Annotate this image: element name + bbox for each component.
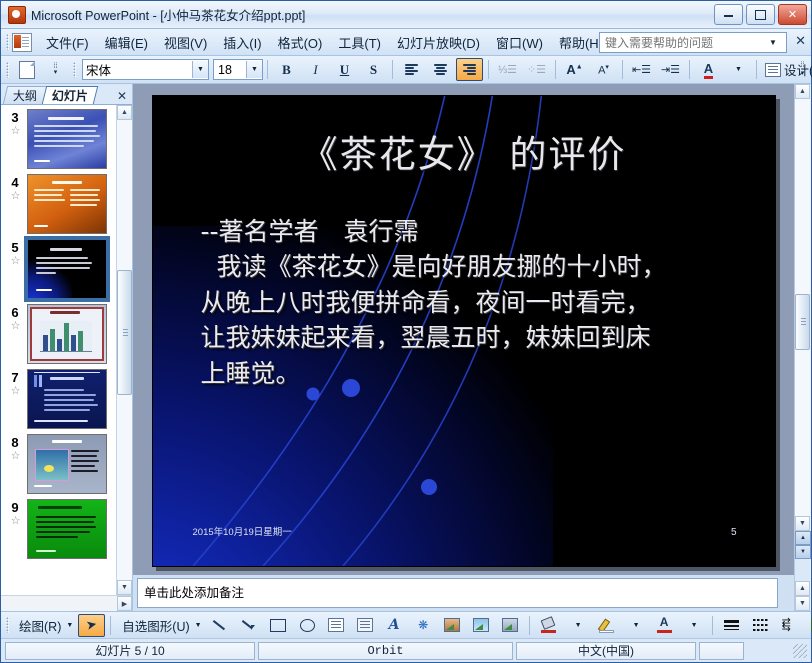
scroll-up-icon[interactable]: ▲ xyxy=(117,105,132,120)
thumbnail-meta: 3 ☆ xyxy=(3,109,27,137)
minimize-button[interactable] xyxy=(714,4,743,25)
decrease-font-icon: A▾ xyxy=(598,63,609,77)
slide-number: 7 xyxy=(3,371,27,385)
menu-item-window[interactable]: 窗口(W) xyxy=(488,30,551,55)
slide-scrollbar[interactable]: ▲ ▼ ▲ ▼ ▲ ▼ xyxy=(794,84,811,611)
arrow-style-button[interactable]: ⇄⇆ xyxy=(776,614,803,637)
textbox-icon xyxy=(328,618,344,632)
title-bar: Microsoft PowerPoint - [小仲马茶花女介绍ppt.ppt]… xyxy=(1,1,811,29)
separator xyxy=(488,60,489,79)
menu-item-tools[interactable]: 工具(T) xyxy=(330,30,389,55)
next-slide-button[interactable]: ▼ xyxy=(795,545,811,559)
status-bar: 幻灯片 5 / 10 Orbit 中文(中国) xyxy=(1,638,811,662)
thumbnail-meta: 4 ☆ xyxy=(3,174,27,202)
picture-icon xyxy=(473,618,489,632)
status-extra xyxy=(699,642,744,660)
diagram-icon: ❋ xyxy=(418,618,428,632)
separator xyxy=(622,60,623,79)
dash-style-button[interactable] xyxy=(747,614,774,637)
slide-number: 3 xyxy=(3,111,27,125)
animation-icon: ☆ xyxy=(3,125,27,137)
draw-font-color-button[interactable]: A xyxy=(651,614,678,637)
tab-outline-label: 大纲 xyxy=(13,87,37,104)
slide-editor-pane: 《茶花女》 的评价 --著名学者 袁行霈 我读《茶花女》是向好朋友挪的十小时， … xyxy=(133,84,794,611)
thumbnail-meta: 5 ☆ xyxy=(3,239,27,267)
chevron-down-icon: ▾ xyxy=(54,70,58,76)
thumbnail-list[interactable]: 3 ☆ xyxy=(1,105,116,595)
slide-thumbnail[interactable] xyxy=(27,499,107,559)
close-button[interactable]: ✕ xyxy=(778,4,807,25)
numbered-list-button[interactable]: ⅓☰ xyxy=(494,58,521,81)
chevron-down-icon: ▼ xyxy=(195,622,202,629)
scrollbar-thumb[interactable] xyxy=(795,294,810,350)
slide-footer-number: 5 xyxy=(731,527,737,538)
help-search-input[interactable] xyxy=(603,33,765,52)
fill-color-icon xyxy=(541,618,556,633)
chevron-down-icon[interactable]: ▼ xyxy=(246,61,262,78)
select-objects-button[interactable]: ➤ xyxy=(78,614,105,637)
notes-scroll-up-icon[interactable]: ▲ xyxy=(795,581,810,596)
shadow-style-button[interactable] xyxy=(805,614,812,637)
increase-font-icon: A▲ xyxy=(566,62,582,77)
list-item[interactable]: 8 ☆ xyxy=(1,434,116,494)
insert-picture-button[interactable] xyxy=(468,614,495,637)
line-icon xyxy=(213,619,227,631)
fontbar-grip[interactable] xyxy=(73,62,76,78)
menubar-grip[interactable] xyxy=(6,34,9,50)
slide-body-text[interactable]: --著名学者 袁行霈 我读《茶花女》是向好朋友挪的十小时， 从晚上八时我便拼命看… xyxy=(195,214,755,392)
dash-style-icon xyxy=(753,619,768,631)
animation-icon: ☆ xyxy=(3,385,27,397)
shadow-icon: S xyxy=(370,62,377,78)
toolbar-overflow-button[interactable]: ⁞⁞▾ xyxy=(796,58,809,80)
align-right-icon xyxy=(463,64,476,75)
textbox-button[interactable] xyxy=(323,614,350,637)
align-center-button[interactable] xyxy=(427,58,454,81)
status-slide-counter: 幻灯片 5 / 10 xyxy=(5,642,255,660)
slide-number: 4 xyxy=(3,176,27,190)
formatting-toolbar: ⁞⁞▾ 宋体 ▼ 18 ▼ B I U S xyxy=(1,56,811,84)
autoshapes-label: 自选图形(U) xyxy=(119,616,192,635)
text-shadow-button[interactable]: S xyxy=(360,58,387,81)
oval-button[interactable] xyxy=(294,614,321,637)
autoshapes-button[interactable]: 自选图形(U) ▼ xyxy=(116,614,204,637)
menu-item-insert[interactable]: 插入(I) xyxy=(215,30,269,55)
chevron-down-icon: ▼ xyxy=(633,622,640,629)
slide-title[interactable]: 《茶花女》 的评价 xyxy=(153,124,775,178)
separator xyxy=(689,60,690,79)
drawbar-grip[interactable] xyxy=(6,617,9,633)
fill-color-dropdown[interactable]: ▼ xyxy=(564,614,591,637)
scrollbar-spacer xyxy=(795,559,810,581)
thumbnail-meta: 7 ☆ xyxy=(3,369,27,397)
scroll-up-icon[interactable]: ▲ xyxy=(795,84,810,99)
slide-footer-date: 2015年10月19日星期一 xyxy=(193,524,292,538)
increase-font-button[interactable]: A▲ xyxy=(561,58,588,81)
underline-button[interactable]: U xyxy=(331,58,358,81)
separator xyxy=(529,616,530,635)
drawing-toolbar: 绘图(R) ▼ ➤ 自选图形(U) ▼ A ❋ ▼ ▼ A ▼ ⇄⇆ xyxy=(1,611,811,638)
menu-item-edit[interactable]: 编辑(E) xyxy=(97,30,156,55)
slides-pane: 大纲 幻灯片 ✕ 3 ☆ xyxy=(1,84,133,611)
decrease-indent-button[interactable]: ⇤☰ xyxy=(628,58,655,81)
font-color-dropdown[interactable]: ▼ xyxy=(724,58,751,81)
list-item[interactable]: 7 ☆ xyxy=(1,369,116,429)
align-left-icon xyxy=(405,64,418,75)
fmtbar-grip[interactable] xyxy=(6,62,9,78)
animation-icon: ☆ xyxy=(3,255,27,267)
menu-item-format[interactable]: 格式(O) xyxy=(270,30,331,55)
line-color-dropdown[interactable]: ▼ xyxy=(622,614,649,637)
decrease-font-button[interactable]: A▾ xyxy=(590,58,617,81)
design-icon xyxy=(765,63,781,77)
insert-chart-button[interactable] xyxy=(497,614,524,637)
fill-color-button[interactable] xyxy=(535,614,562,637)
slide-number: 9 xyxy=(3,501,27,515)
slides-pane-scrollbar[interactable]: ▲ ▼ xyxy=(116,105,132,595)
clipart-button[interactable] xyxy=(439,614,466,637)
new-document-button[interactable] xyxy=(13,58,40,81)
vertical-textbox-button[interactable] xyxy=(352,614,379,637)
align-right-button[interactable] xyxy=(456,58,483,81)
chevron-down-icon: ▼ xyxy=(735,66,742,73)
list-item[interactable]: 4 ☆ xyxy=(1,174,116,234)
scroll-down-icon[interactable]: ▼ xyxy=(795,516,810,531)
font-name-value: 宋体 xyxy=(83,60,192,79)
list-item[interactable]: 9 ☆ xyxy=(1,499,116,559)
scroll-right-icon[interactable]: ▶ xyxy=(117,596,132,611)
window-title: Microsoft PowerPoint - [小仲马茶花女介绍ppt.ppt] xyxy=(31,5,305,24)
font-color-icon: A xyxy=(704,61,713,79)
italic-button[interactable]: I xyxy=(302,58,329,81)
menu-item-file[interactable]: 文件(F) xyxy=(38,30,97,55)
chevron-down-icon: ▾ xyxy=(801,69,805,77)
line-color-button[interactable] xyxy=(593,614,620,637)
pane-tab-strip: 大纲 幻灯片 ✕ xyxy=(1,84,132,104)
wordart-button[interactable]: A xyxy=(381,614,408,637)
arrow-style-icon: ⇄⇆ xyxy=(782,619,797,632)
numbered-list-icon: ⅓☰ xyxy=(498,63,517,76)
font-color-button[interactable]: A xyxy=(695,58,722,81)
scroll-down-icon[interactable]: ▼ xyxy=(117,580,132,595)
slide-thumbnail-selected[interactable] xyxy=(27,239,107,299)
notes-pane: 单击此处添加备注 xyxy=(133,575,794,611)
menu-item-view[interactable]: 视图(V) xyxy=(156,30,215,55)
draw-menu-button[interactable]: 绘图(R) ▼ xyxy=(13,614,76,637)
menu-bar: 文件(F) 编辑(E) 视图(V) 插入(I) 格式(O) 工具(T) 幻灯片放… xyxy=(1,29,811,56)
menu-item-slideshow[interactable]: 幻灯片放映(D) xyxy=(389,30,488,55)
chevron-down-icon[interactable]: ▼ xyxy=(192,61,208,78)
chevron-down-icon: ▼ xyxy=(575,622,582,629)
chevron-down-icon: ▼ xyxy=(66,622,73,629)
new-document-icon xyxy=(19,61,35,79)
rectangle-icon xyxy=(270,619,286,632)
thumbnails-container: 3 ☆ xyxy=(1,104,132,595)
notes-placeholder[interactable]: 单击此处添加备注 xyxy=(137,578,778,608)
align-left-button[interactable] xyxy=(398,58,425,81)
draw-font-color-dropdown[interactable]: ▼ xyxy=(680,614,707,637)
list-item[interactable]: 3 ☆ xyxy=(1,109,116,169)
chart-icon xyxy=(502,618,518,632)
bold-icon: B xyxy=(282,62,291,78)
italic-icon: I xyxy=(313,62,317,78)
workspace: 大纲 幻灯片 ✕ 3 ☆ xyxy=(1,84,811,611)
body-line-3: 从晚上八时我便拼命看，夜间一时看完， xyxy=(201,285,755,321)
arrow-icon xyxy=(242,619,256,631)
animation-icon: ☆ xyxy=(3,190,27,202)
restore-button[interactable] xyxy=(746,4,775,25)
previous-slide-button[interactable]: ▲ xyxy=(795,531,811,545)
increase-indent-button[interactable]: ⇥☰ xyxy=(657,58,684,81)
font-size-value: 18 xyxy=(214,63,246,77)
help-close-icon[interactable]: ✕ xyxy=(795,33,806,49)
chevron-down-icon[interactable]: ▼ xyxy=(765,34,781,51)
help-search-box[interactable]: ▼ xyxy=(599,32,787,53)
line-button[interactable] xyxy=(207,614,234,637)
slide-thumbnail[interactable] xyxy=(27,369,107,429)
separator xyxy=(712,616,713,635)
chevron-down-icon: ▼ xyxy=(691,622,698,629)
line-style-button[interactable] xyxy=(718,614,745,637)
decrease-indent-icon: ⇤☰ xyxy=(632,63,651,76)
scrollbar-track[interactable] xyxy=(795,99,810,516)
line-style-icon xyxy=(724,619,739,631)
status-design-name: Orbit xyxy=(258,642,513,660)
slide-canvas-area[interactable]: 《茶花女》 的评价 --著名学者 袁行霈 我读《茶花女》是向好朋友挪的十小时， … xyxy=(133,84,794,575)
powerpoint-icon xyxy=(8,6,26,24)
bold-button[interactable]: B xyxy=(273,58,300,81)
body-line-4: 让我妹妹起来看，翌晨五时，妹妹回到床 xyxy=(201,320,755,356)
clipart-icon xyxy=(444,618,460,632)
tab-slides[interactable]: 幻灯片 xyxy=(42,86,99,104)
arrow-button[interactable] xyxy=(236,614,263,637)
powerpoint-window: Microsoft PowerPoint - [小仲马茶花女介绍ppt.ppt]… xyxy=(0,0,812,663)
thumbnail-meta: 8 ☆ xyxy=(3,434,27,462)
separator xyxy=(267,60,268,79)
vertical-textbox-icon xyxy=(357,618,373,632)
separator xyxy=(756,60,757,79)
restore-icon xyxy=(755,10,766,20)
thumbnail-meta: 6 ☆ xyxy=(3,304,27,332)
separator xyxy=(392,60,393,79)
bullet-list-icon: ⁘☰ xyxy=(527,63,546,76)
notes-scroll-down-icon[interactable]: ▼ xyxy=(795,596,810,611)
oval-icon xyxy=(300,619,315,632)
separator xyxy=(555,60,556,79)
font-name-combo[interactable]: 宋体 ▼ xyxy=(82,59,209,80)
close-icon: ✕ xyxy=(788,8,797,21)
list-item[interactable]: 5 ☆ xyxy=(1,239,116,299)
scrollbar-thumb[interactable] xyxy=(117,270,132,395)
bullet-list-button[interactable]: ⁘☰ xyxy=(523,58,550,81)
draw-menu-label: 绘图(R) xyxy=(16,616,64,635)
list-item[interactable]: 6 ☆ xyxy=(1,304,116,364)
line-color-icon xyxy=(599,618,614,633)
slide-thumbnail[interactable] xyxy=(27,109,107,169)
cursor-icon: ➤ xyxy=(85,616,99,634)
pane-close-icon[interactable]: ✕ xyxy=(117,89,127,103)
body-line-2: 我读《茶花女》是向好朋友挪的十小时， xyxy=(217,249,755,285)
slides-pane-hscrollbar[interactable]: ▶ xyxy=(1,595,132,611)
window-controls: ✕ xyxy=(714,4,807,25)
tab-outline[interactable]: 大纲 xyxy=(3,86,48,104)
thumbnail-meta: 9 ☆ xyxy=(3,499,27,527)
increase-indent-icon: ⇥☰ xyxy=(661,63,680,76)
diagram-button[interactable]: ❋ xyxy=(410,614,437,637)
align-center-icon xyxy=(434,64,447,75)
animation-icon: ☆ xyxy=(3,515,27,527)
slide-thumbnail[interactable] xyxy=(27,434,107,494)
overflow-icon: ⁞⁞ xyxy=(801,62,805,69)
body-line-1: --著名学者 袁行霈 xyxy=(201,214,755,250)
slide-number: 5 xyxy=(3,241,27,255)
document-icon xyxy=(12,33,32,52)
current-slide[interactable]: 《茶花女》 的评价 --著名学者 袁行霈 我读《茶花女》是向好朋友挪的十小时， … xyxy=(152,95,776,567)
scrollbar-track[interactable] xyxy=(117,120,132,580)
toolbar-options-button[interactable]: ⁞⁞▾ xyxy=(42,58,69,81)
animation-icon: ☆ xyxy=(3,450,27,462)
rectangle-button[interactable] xyxy=(265,614,292,637)
resize-grip[interactable] xyxy=(793,644,807,658)
separator xyxy=(110,616,111,635)
slide-thumbnail[interactable] xyxy=(27,174,107,234)
slide-number: 6 xyxy=(3,306,27,320)
minimize-icon xyxy=(724,12,733,17)
body-line-5: 上睡觉。 xyxy=(201,356,755,392)
tab-slides-label: 幻灯片 xyxy=(52,87,88,104)
underline-icon: U xyxy=(340,62,349,78)
status-language[interactable]: 中文(中国) xyxy=(516,642,696,660)
font-color-icon: A xyxy=(657,617,672,633)
slide-thumbnail[interactable] xyxy=(27,304,107,364)
wordart-icon: A xyxy=(389,617,400,633)
animation-icon: ☆ xyxy=(3,320,27,332)
font-size-combo[interactable]: 18 ▼ xyxy=(213,59,263,80)
slide-number: 8 xyxy=(3,436,27,450)
